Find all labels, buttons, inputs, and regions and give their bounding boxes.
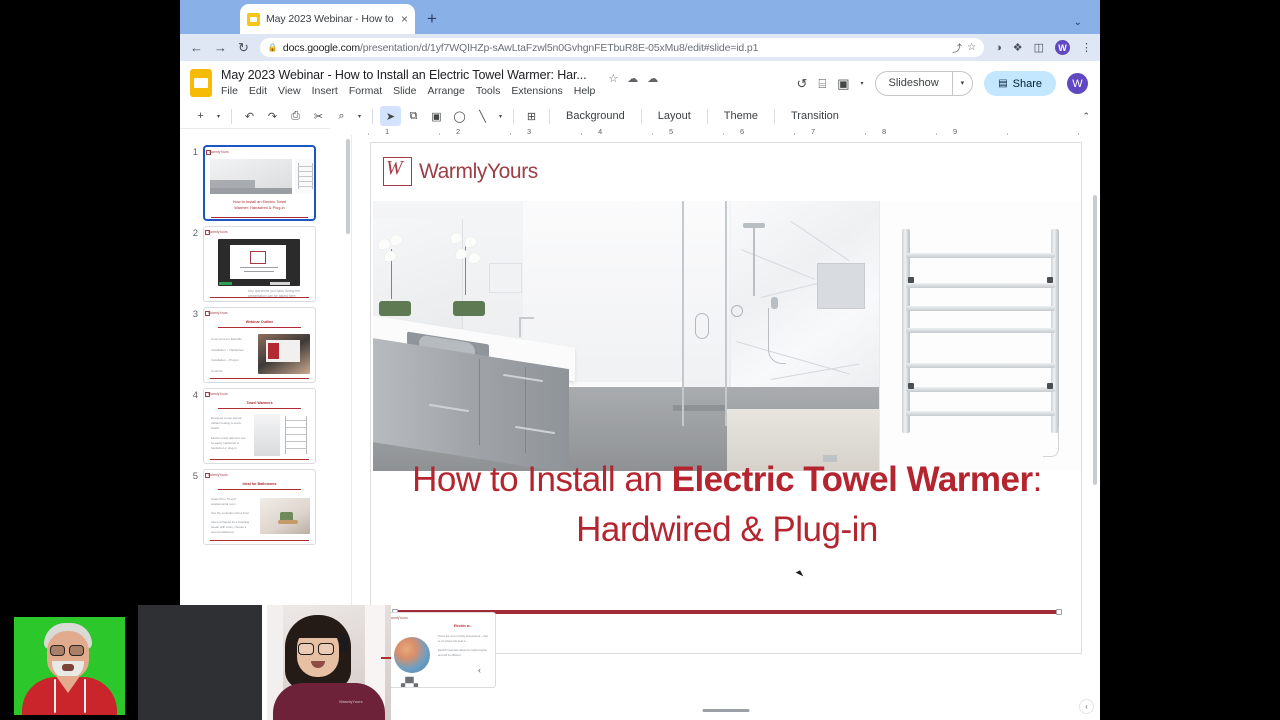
zoom-dropdown-icon[interactable]: ▾: [354, 113, 365, 120]
menu-slide[interactable]: Slide: [393, 85, 416, 97]
menu-insert[interactable]: Insert: [312, 85, 338, 97]
towel-warmer-photo: [879, 201, 1081, 471]
page-title[interactable]: May 2023 Webinar - How to Install an Ele…: [221, 68, 595, 82]
shape-tool-button[interactable]: ◯: [449, 106, 470, 126]
thumb-title-line1: How to Install an Electric Towel: [233, 199, 287, 204]
background-button[interactable]: Background: [557, 110, 634, 122]
thumb-bullet: Also purchased as a towelling heater wit…: [211, 520, 253, 535]
thumb-heading-rule: [218, 327, 301, 328]
thumb-screen: [218, 239, 300, 286]
slide-thumbnail-5[interactable]: WarmlyYours Ideal for Bathrooms Heats 50…: [203, 469, 316, 545]
warmlyyours-logo-icon: WarmlyYours: [208, 392, 228, 396]
glasses-icon: [69, 645, 84, 656]
zoom-icon[interactable]: ⌕: [331, 106, 352, 126]
layout-button[interactable]: Layout: [649, 110, 700, 122]
divider: [549, 109, 550, 124]
warmlyyours-logo-text: WarmlyYours: [419, 160, 538, 184]
canvas-horizontal-scrollbar[interactable]: [703, 709, 750, 712]
thumb-bullet: Designed to use electric radiant heating…: [211, 416, 249, 431]
share-button[interactable]: ▤ Share: [984, 71, 1056, 96]
thumb-caption: Any questions you have during the presen…: [248, 289, 310, 300]
thumb-bullets: Cost Concern Benefits Installation – Har…: [211, 334, 243, 376]
url-path: /presentation/d/1yf7WQIHZp-sAwLtaFzwl5n0…: [360, 42, 758, 54]
divider: [513, 109, 514, 124]
select-tool-button[interactable]: ➤: [380, 106, 401, 126]
close-icon[interactable]: ×: [401, 13, 408, 25]
green-screen-background: [14, 617, 125, 715]
menu-bar: File Edit View Insert Format Slide Arran…: [221, 85, 595, 97]
headphone-icon: [340, 633, 348, 653]
slide-number: 4: [185, 388, 198, 401]
transition-button[interactable]: Transition: [782, 110, 848, 122]
new-slide-button[interactable]: +: [190, 106, 211, 126]
back-button[interactable]: ←: [190, 41, 203, 54]
bookmark-star-icon[interactable]: ☆: [967, 42, 976, 53]
page-info-icon[interactable]: ◑: [995, 42, 1002, 54]
redo-button[interactable]: ↷: [262, 106, 283, 126]
filmstrip-row: 5 WarmlyYours Ideal for Bathrooms Heats …: [180, 464, 351, 545]
browser-profile-avatar[interactable]: W: [1055, 40, 1070, 55]
slide-thumbnail-3[interactable]: WarmlyYours Webinar Outline Cost Concern…: [203, 307, 316, 383]
slideshow-dropdown-icon[interactable]: ▾: [952, 72, 973, 95]
glasses-icon: [318, 643, 334, 655]
share-icon[interactable]: ⤴: [952, 40, 962, 55]
globe-graphic: [394, 637, 430, 673]
thumb-heading: Towel Warmers: [204, 401, 315, 405]
divider: [372, 109, 373, 124]
extensions-icon[interactable]: ❖: [1013, 41, 1023, 54]
slide-number: 2: [185, 226, 198, 239]
menu-edit[interactable]: Edit: [249, 85, 267, 97]
canvas-vertical-scrollbar[interactable]: [1093, 195, 1097, 485]
omnibox-row: ← → ↻ 🔒 docs.google.com/presentation/d/1…: [180, 34, 1100, 61]
slide-thumbnail-2[interactable]: WarmlyYours Any questions you have durin…: [203, 226, 316, 302]
bathroom-photo: [373, 201, 879, 471]
menu-view[interactable]: View: [278, 85, 301, 97]
glasses-icon: [50, 645, 65, 656]
cloud-saved-icon[interactable]: ☁: [647, 72, 658, 85]
glasses-icon: [298, 643, 314, 655]
slide-title-text[interactable]: How to Install an Electric Towel Warmer:…: [401, 455, 1053, 554]
video-tile-presenter-2[interactable]: WarmlyYours: [267, 605, 391, 720]
line-dropdown-icon[interactable]: ▾: [495, 113, 506, 120]
presenter-shirt: [273, 683, 385, 720]
shirt-logo: WarmlyYours: [339, 699, 363, 704]
current-slide[interactable]: WarmlyYours: [370, 142, 1082, 654]
reload-button[interactable]: ↻: [238, 41, 249, 54]
thumb-accent-rule: [211, 217, 308, 218]
thumb-bullets: There are a lot of body temperature – th…: [438, 635, 488, 658]
wall-accent-line: [381, 657, 391, 659]
thumb-bullet: Electric heat also allows for higher hig…: [438, 649, 488, 658]
tab-title: May 2023 Webinar - How to In: [266, 13, 395, 25]
slide-images: [373, 201, 1081, 471]
qr-code-icon: ▞▚: [401, 679, 417, 688]
thumb-title-text: How to Install an Electric Towel Warmer:…: [209, 199, 310, 212]
menu-format[interactable]: Format: [349, 85, 382, 97]
slides-app-header: May 2023 Webinar - How to Install an Ele…: [180, 61, 1100, 104]
thumb-accent-rule: [210, 378, 309, 379]
selection-handle-right[interactable]: [1056, 609, 1062, 615]
title-icon-group: ☆ ☁ ☁: [608, 66, 658, 85]
thumb-heading: Ideal for Bathrooms: [204, 482, 315, 486]
url-domain: docs.google.com: [283, 42, 360, 54]
thumb-bullet: Installation – Plug-in: [211, 355, 243, 366]
headset-cord: [84, 679, 86, 713]
lock-icon: 🔒: [268, 43, 278, 52]
warmlyyours-logo-icon: WarmlyYours: [208, 473, 228, 477]
headset-cord: [54, 679, 56, 713]
tab-strip: May 2023 Webinar - How to In × + ⌄: [180, 0, 1100, 34]
menu-help[interactable]: Help: [574, 85, 596, 97]
thumb-bullet: Heats 50 to 75 sq ft supplemental room: [211, 497, 253, 507]
editor-toolbar: + ▾ ↶ ↷ ⎙ ✂ ⌕ ▾ ➤ ⧉ ▣ ◯ ╲ ▾ ⊞ Background…: [180, 104, 1100, 129]
thumb-photo: [254, 414, 280, 456]
add-textbox-button[interactable]: ⊞: [521, 106, 542, 126]
share-lock-icon: ▤: [998, 78, 1007, 89]
version-history-icon[interactable]: ↺: [797, 76, 808, 92]
slide-number: 1: [185, 145, 198, 158]
thumb-bullets: Designed to use electric radiant heating…: [211, 416, 249, 451]
undo-button[interactable]: ↶: [239, 106, 260, 126]
header-actions: ↺ ⌸ ▣ ▾ Slideshow ▾ ▤ Share W: [797, 66, 1089, 96]
thumb-heading-rule: [218, 489, 301, 490]
thumb-heading: Webinar Outline: [204, 320, 315, 324]
thumb-bullet: Installation – Hardwired: [211, 345, 243, 356]
side-panel-icon[interactable]: ◫: [1034, 41, 1044, 54]
move-to-folder-icon[interactable]: ☁: [627, 72, 638, 85]
thumb-bullet: Cost Concern Benefits: [211, 334, 243, 345]
url-text: docs.google.com/presentation/d/1yf7WQIHZ…: [283, 42, 947, 54]
collapse-notes-icon[interactable]: ‹: [1079, 699, 1094, 714]
textbox-tool-button[interactable]: ⧉: [403, 106, 424, 126]
slide-thumbnail-6[interactable]: WarmlyYours Electric w... ▞▚ There are a…: [383, 612, 496, 688]
avatar[interactable]: W: [1067, 73, 1088, 94]
thumb-bullet: Electric towel warmers can be easily har…: [211, 436, 249, 451]
slide-thumbnail-1[interactable]: WarmlyYours How to Install an Electric T…: [203, 145, 316, 221]
warmlyyours-logo: WarmlyYours: [383, 157, 538, 186]
thumb-heading-rule: [218, 408, 301, 409]
slide-number: 3: [185, 307, 198, 320]
thumb-accent-rule: [210, 540, 309, 541]
title-part-1: How to Install an: [412, 460, 671, 499]
print-icon[interactable]: ⎙: [285, 106, 306, 126]
slide-number: 5: [185, 469, 198, 482]
thumb-floor: [210, 188, 292, 194]
warmlyyours-monogram-icon: [383, 157, 412, 186]
warmlyyours-logo-icon: WarmlyYours: [208, 230, 228, 234]
meet-camera-icon[interactable]: ▣: [837, 76, 849, 92]
thumb-photo: [258, 334, 310, 374]
browser-menu-icon[interactable]: ⋮: [1081, 41, 1090, 54]
meet-caret-icon[interactable]: ▾: [861, 80, 864, 87]
chevron-down-icon[interactable]: ⌄: [1074, 17, 1082, 28]
divider: [774, 109, 775, 124]
warmlyyours-logo-icon: WarmlyYours: [209, 150, 229, 154]
filmstrip-row: 2 WarmlyYours Any questions you have dur…: [180, 221, 351, 302]
insert-image-button[interactable]: ▣: [426, 106, 447, 126]
google-slides-logo-icon: [190, 69, 212, 97]
chevron-left-icon[interactable]: ‹: [478, 665, 481, 675]
thumb-accent-rule: [210, 297, 309, 298]
menu-arrange[interactable]: Arrange: [427, 85, 464, 97]
thumb-photo: [260, 498, 310, 534]
slide-thumbnail-4[interactable]: WarmlyYours Towel Warmers Designed to us…: [203, 388, 316, 464]
thumb-diagram: [283, 414, 309, 456]
paint-format-icon[interactable]: ✂: [308, 106, 329, 126]
filmstrip-row: 1 WarmlyYours How to Inst: [180, 140, 351, 221]
menu-extensions[interactable]: Extensions: [511, 85, 562, 97]
mouse-cursor: [796, 570, 804, 579]
warmlyyours-logo-icon: WarmlyYours: [208, 311, 228, 315]
line-tool-button[interactable]: ╲: [472, 106, 493, 126]
menu-file[interactable]: File: [221, 85, 238, 97]
slideshow-button-group: Slideshow ▾: [875, 71, 974, 96]
thumb-accent-rule: [210, 459, 309, 460]
filmstrip-scrollbar[interactable]: [346, 139, 350, 234]
star-icon[interactable]: ☆: [608, 72, 618, 85]
thumb-bullet: Use the controller with a timer: [211, 511, 253, 516]
new-tab-button[interactable]: +: [427, 10, 437, 27]
thumb-bullets: Heats 50 to 75 sq ft supplemental room U…: [211, 497, 253, 535]
divider: [707, 109, 708, 124]
share-label: Share: [1013, 78, 1042, 90]
collapse-toolbar-icon[interactable]: ⌃: [1082, 111, 1090, 122]
video-tile-presenter-1[interactable]: [9, 612, 130, 715]
filmstrip-row: 3 WarmlyYours Webinar Outline Cost Conce…: [180, 302, 351, 383]
theme-button[interactable]: Theme: [715, 110, 767, 122]
presenter-bangs: [293, 622, 343, 638]
title-bold: Electric Towel Warmer: [672, 460, 1033, 499]
thumb-title-line2: Warmer: Hardwired & Plug-in: [234, 205, 284, 210]
thumb-towelwarmer: [295, 159, 316, 194]
comment-icon[interactable]: ⌸: [818, 76, 826, 92]
presenter-mouth: [62, 664, 74, 671]
thumb-heading: Electric w...: [433, 624, 493, 628]
thumb-bullet: There are a lot of body temperature – th…: [438, 635, 488, 644]
address-bar[interactable]: 🔒 docs.google.com/presentation/d/1yf7WQI…: [260, 38, 984, 57]
slideshow-button[interactable]: Slideshow: [876, 72, 952, 95]
chevron-down-icon[interactable]: ▾: [213, 113, 224, 120]
forward-button[interactable]: →: [214, 41, 227, 54]
browser-tab[interactable]: May 2023 Webinar - How to In ×: [240, 4, 415, 34]
thumb-bullet: Controls: [211, 366, 243, 377]
slides-favicon-icon: [247, 13, 260, 26]
divider: [231, 109, 232, 124]
menu-tools[interactable]: Tools: [476, 85, 501, 97]
video-tile-empty[interactable]: [138, 605, 262, 720]
title-block: May 2023 Webinar - How to Install an Ele…: [221, 66, 595, 97]
filmstrip-row: 4 WarmlyYours Towel Warmers Designed to …: [180, 383, 351, 464]
divider: [641, 109, 642, 124]
